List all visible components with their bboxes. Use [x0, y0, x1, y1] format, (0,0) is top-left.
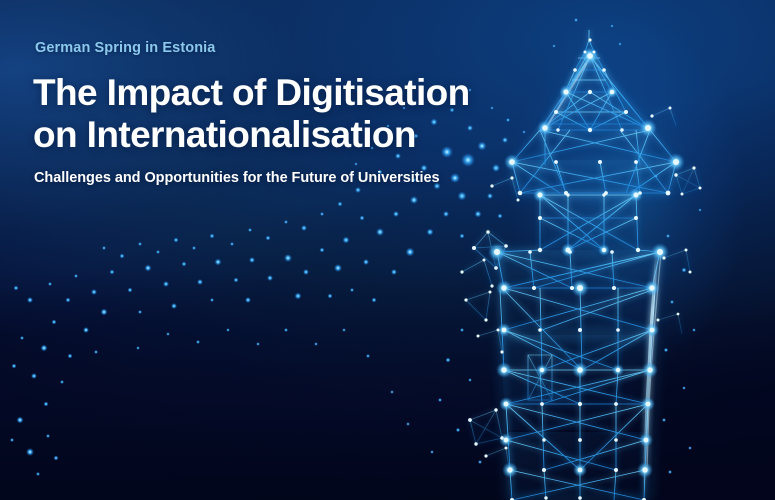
slide-canvas: German Spring in Estonia The Impact of D… [0, 0, 775, 500]
page-subtitle: Challenges and Opportunities for the Fut… [34, 170, 503, 186]
page-title-line-2: on Internationalisation [33, 114, 503, 156]
background-corner-shade [419, 240, 775, 500]
title-block: German Spring in Estonia The Impact of D… [33, 40, 503, 186]
page-title-line-1: The Impact of Digitisation [33, 72, 503, 114]
page-title: The Impact of Digitisation on Internatio… [33, 72, 503, 156]
event-eyebrow-label: German Spring in Estonia [35, 40, 503, 56]
